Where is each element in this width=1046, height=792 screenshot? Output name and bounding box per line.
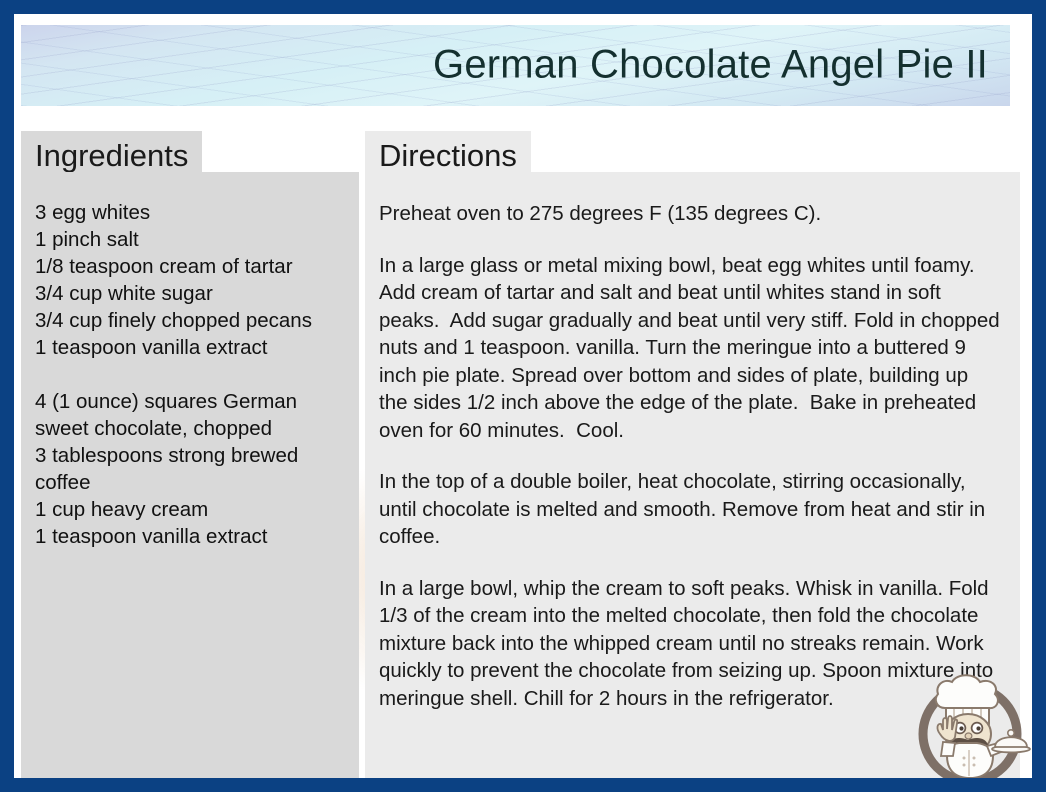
- directions-panel: Preheat oven to 275 degrees F (135 degre…: [365, 172, 1020, 789]
- recipe-card: German Chocolate Angel Pie II: [0, 0, 1046, 792]
- ingredient-item: 3/4 cup finely chopped pecans: [35, 307, 345, 334]
- ingredient-group: 3 egg whites 1 pinch salt 1/8 teaspoon c…: [35, 199, 345, 361]
- direction-step: Preheat oven to 275 degrees F (135 degre…: [379, 200, 1002, 228]
- ingredient-item: 1/8 teaspoon cream of tartar: [35, 253, 345, 280]
- direction-step: In a large bowl, whip the cream to soft …: [379, 575, 1002, 713]
- ingredient-group: 4 (1 ounce) squares German sweet chocola…: [35, 388, 345, 550]
- ingredient-item: 4 (1 ounce) squares German sweet chocola…: [35, 388, 345, 442]
- ingredient-item: 3 egg whites: [35, 199, 345, 226]
- ingredient-item: 1 teaspoon vanilla extract: [35, 334, 345, 361]
- direction-step: In the top of a double boiler, heat choc…: [379, 468, 1002, 551]
- ingredient-item: 1 pinch salt: [35, 226, 345, 253]
- ingredient-item: 1 cup heavy cream: [35, 496, 345, 523]
- ingredient-item: 1 teaspoon vanilla extract: [35, 523, 345, 550]
- header-banner: German Chocolate Angel Pie II: [21, 25, 1010, 106]
- ingredient-item: 3/4 cup white sugar: [35, 280, 345, 307]
- direction-step: In a large glass or metal mixing bowl, b…: [379, 252, 1002, 445]
- ingredient-item: 3 tablespoons strong brewed coffee: [35, 442, 345, 496]
- ingredients-panel: 3 egg whites 1 pinch salt 1/8 teaspoon c…: [21, 172, 359, 789]
- page-title: German Chocolate Angel Pie II: [433, 42, 988, 87]
